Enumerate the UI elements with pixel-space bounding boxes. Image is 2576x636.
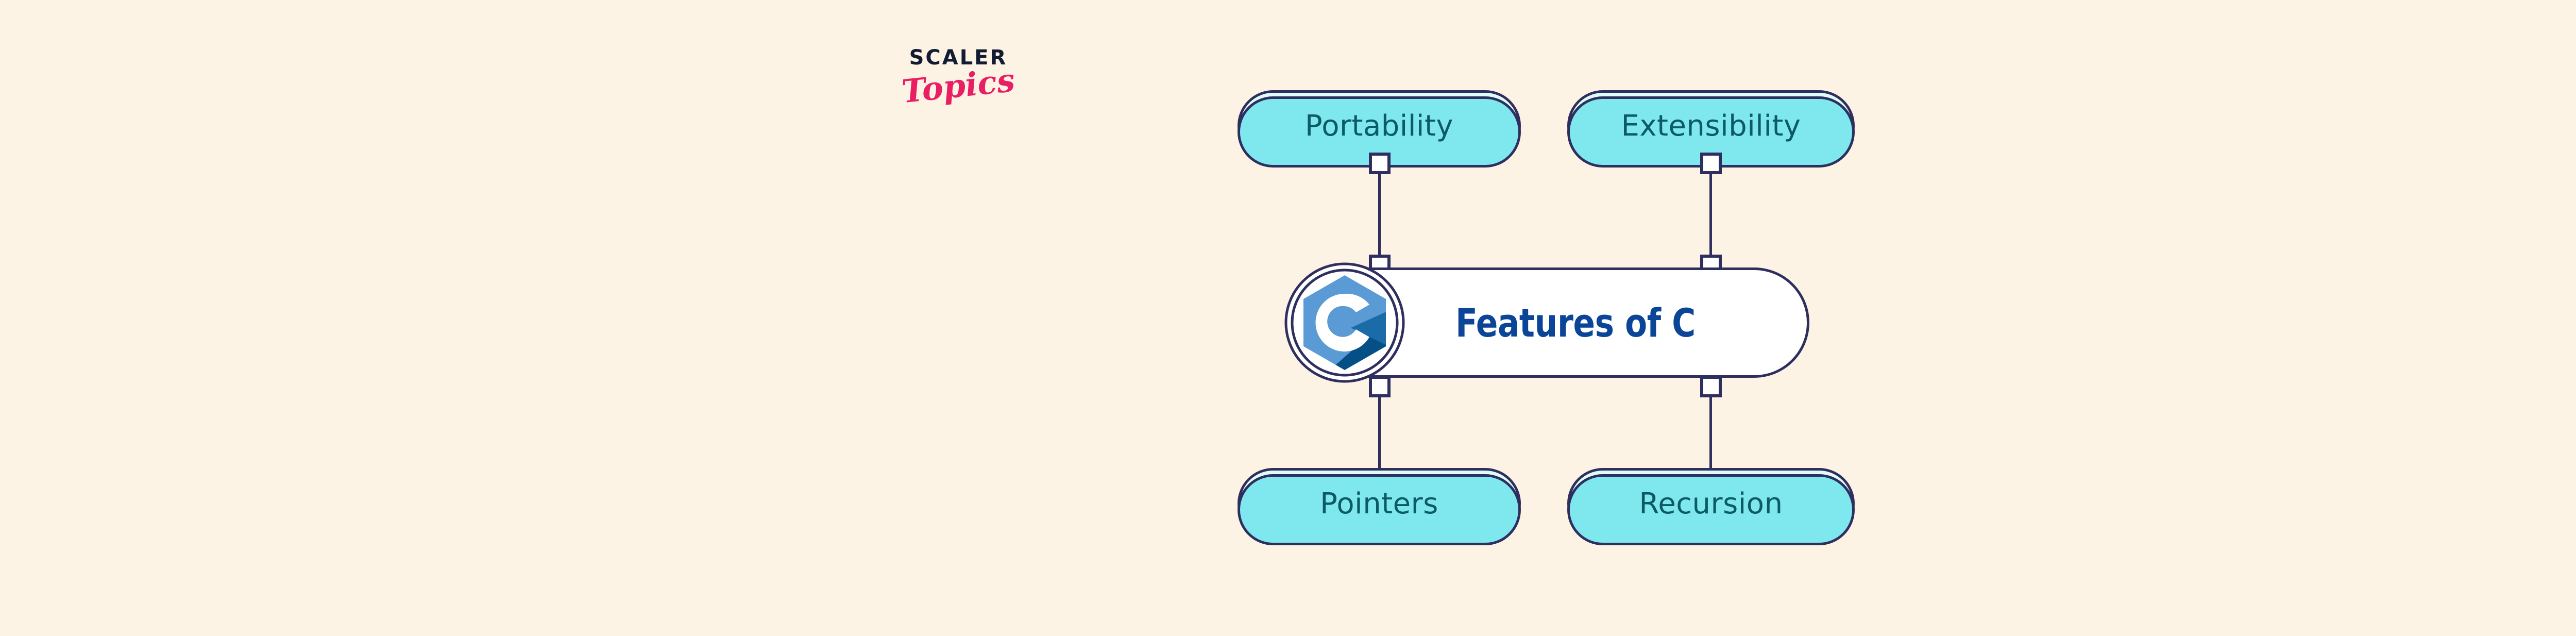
diagram-canvas: SCALER Topics Portability Extensibility … — [0, 0, 2576, 636]
node-portability[interactable]: Portability — [1238, 90, 1521, 161]
connector-handle-portability-top[interactable] — [1369, 153, 1391, 174]
node-portability-label: Portability — [1305, 109, 1453, 143]
center-node-title: Features of C — [1455, 300, 1696, 346]
connector-handle-extensibility-top[interactable] — [1700, 153, 1722, 174]
logo-word-topics: Topics — [892, 63, 1024, 109]
node-recursion[interactable]: Recursion — [1567, 468, 1855, 539]
c-logo-svg — [1284, 262, 1405, 383]
connector-handle-recursion-top[interactable] — [1700, 376, 1722, 397]
node-recursion-label: Recursion — [1639, 487, 1783, 521]
scaler-topics-logo: SCALER Topics — [894, 47, 1023, 140]
node-extensibility-label: Extensibility — [1621, 109, 1801, 143]
node-extensibility[interactable]: Extensibility — [1567, 90, 1855, 161]
node-pointers[interactable]: Pointers — [1238, 468, 1521, 539]
c-language-logo-icon — [1284, 262, 1405, 383]
node-pointers-label: Pointers — [1320, 487, 1438, 521]
